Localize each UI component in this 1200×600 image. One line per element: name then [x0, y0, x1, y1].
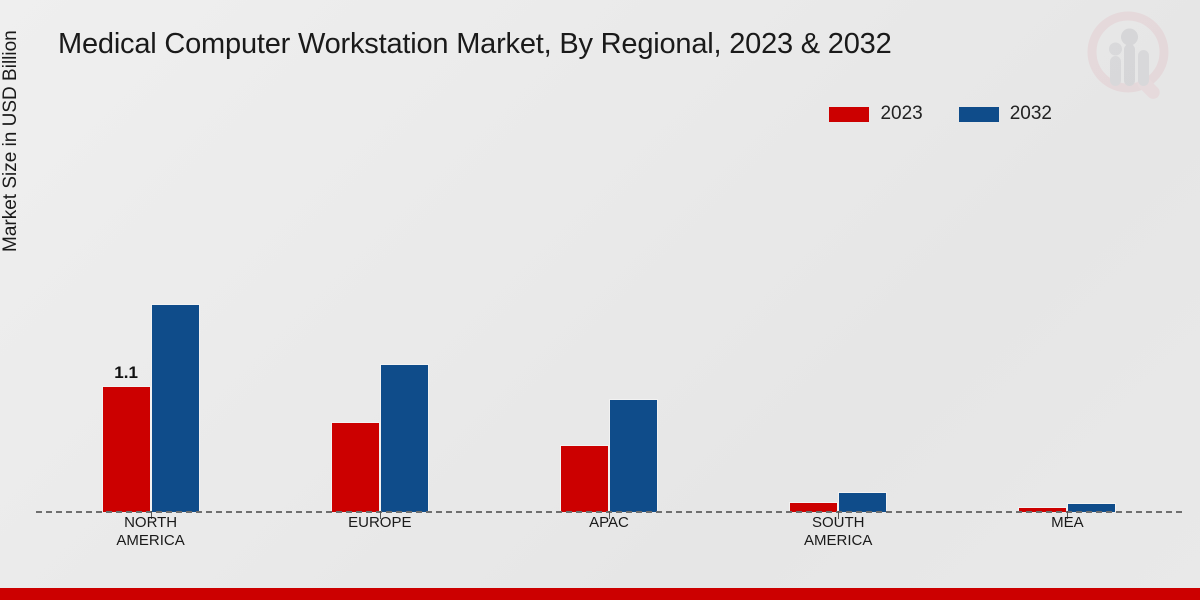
legend-swatch-2032 [959, 107, 999, 122]
bar-2032-south-america[interactable] [838, 492, 887, 512]
watermark-logo-icon [1080, 6, 1186, 112]
x-axis-label-line2: AMERICA [724, 532, 953, 550]
bar-2032-north-america[interactable] [151, 304, 200, 512]
chart-container: Medical Computer Workstation Market, By … [0, 0, 1200, 600]
x-axis-label-apac: APAC [494, 514, 723, 551]
x-axis-label-line1: EUROPE [348, 514, 411, 531]
bar-2023-north-america[interactable]: 1.1 [102, 386, 151, 512]
chart-legend: 2023 2032 [829, 103, 1052, 125]
chart-title: Medical Computer Workstation Market, By … [58, 28, 892, 61]
x-axis-label-line2: AMERICA [36, 532, 265, 550]
legend-label-2032: 2032 [1010, 103, 1052, 125]
x-axis-label-line1: MEA [1051, 514, 1084, 531]
bar-2023-apac[interactable] [560, 445, 609, 512]
legend-item-2032[interactable]: 2032 [959, 103, 1052, 125]
bar-group-south-america [724, 140, 953, 512]
bar-group-north-america: 1.1 [36, 140, 265, 512]
bar-2023-europe[interactable] [331, 422, 380, 512]
x-axis-label-line1: APAC [589, 514, 629, 531]
bar-2032-apac[interactable] [609, 399, 658, 512]
legend-swatch-2023 [829, 107, 869, 122]
x-axis-label-line1: NORTH [124, 514, 177, 531]
bar-group-mea [953, 140, 1182, 512]
legend-item-2023[interactable]: 2023 [829, 103, 922, 125]
x-axis-label-europe: EUROPE [265, 514, 494, 551]
y-axis-title: Market Size in USD Billion [0, 0, 22, 252]
legend-label-2023: 2023 [880, 103, 922, 125]
x-axis-category-labels: NORTH AMERICA EUROPE APAC SOUTH AMERICA … [36, 514, 1182, 551]
plot-area: 1.1 [36, 140, 1182, 512]
bar-value-label-north-america-2023: 1.1 [114, 363, 138, 383]
bottom-accent-band [0, 588, 1200, 600]
x-axis-label-mea: MEA [953, 514, 1182, 551]
x-axis-label-north-america: NORTH AMERICA [36, 514, 265, 551]
bar-2032-europe[interactable] [380, 364, 429, 512]
bar-group-europe [265, 140, 494, 512]
x-axis-label-south-america: SOUTH AMERICA [724, 514, 953, 551]
x-axis-label-line1: SOUTH [812, 514, 865, 531]
bar-group-apac [494, 140, 723, 512]
